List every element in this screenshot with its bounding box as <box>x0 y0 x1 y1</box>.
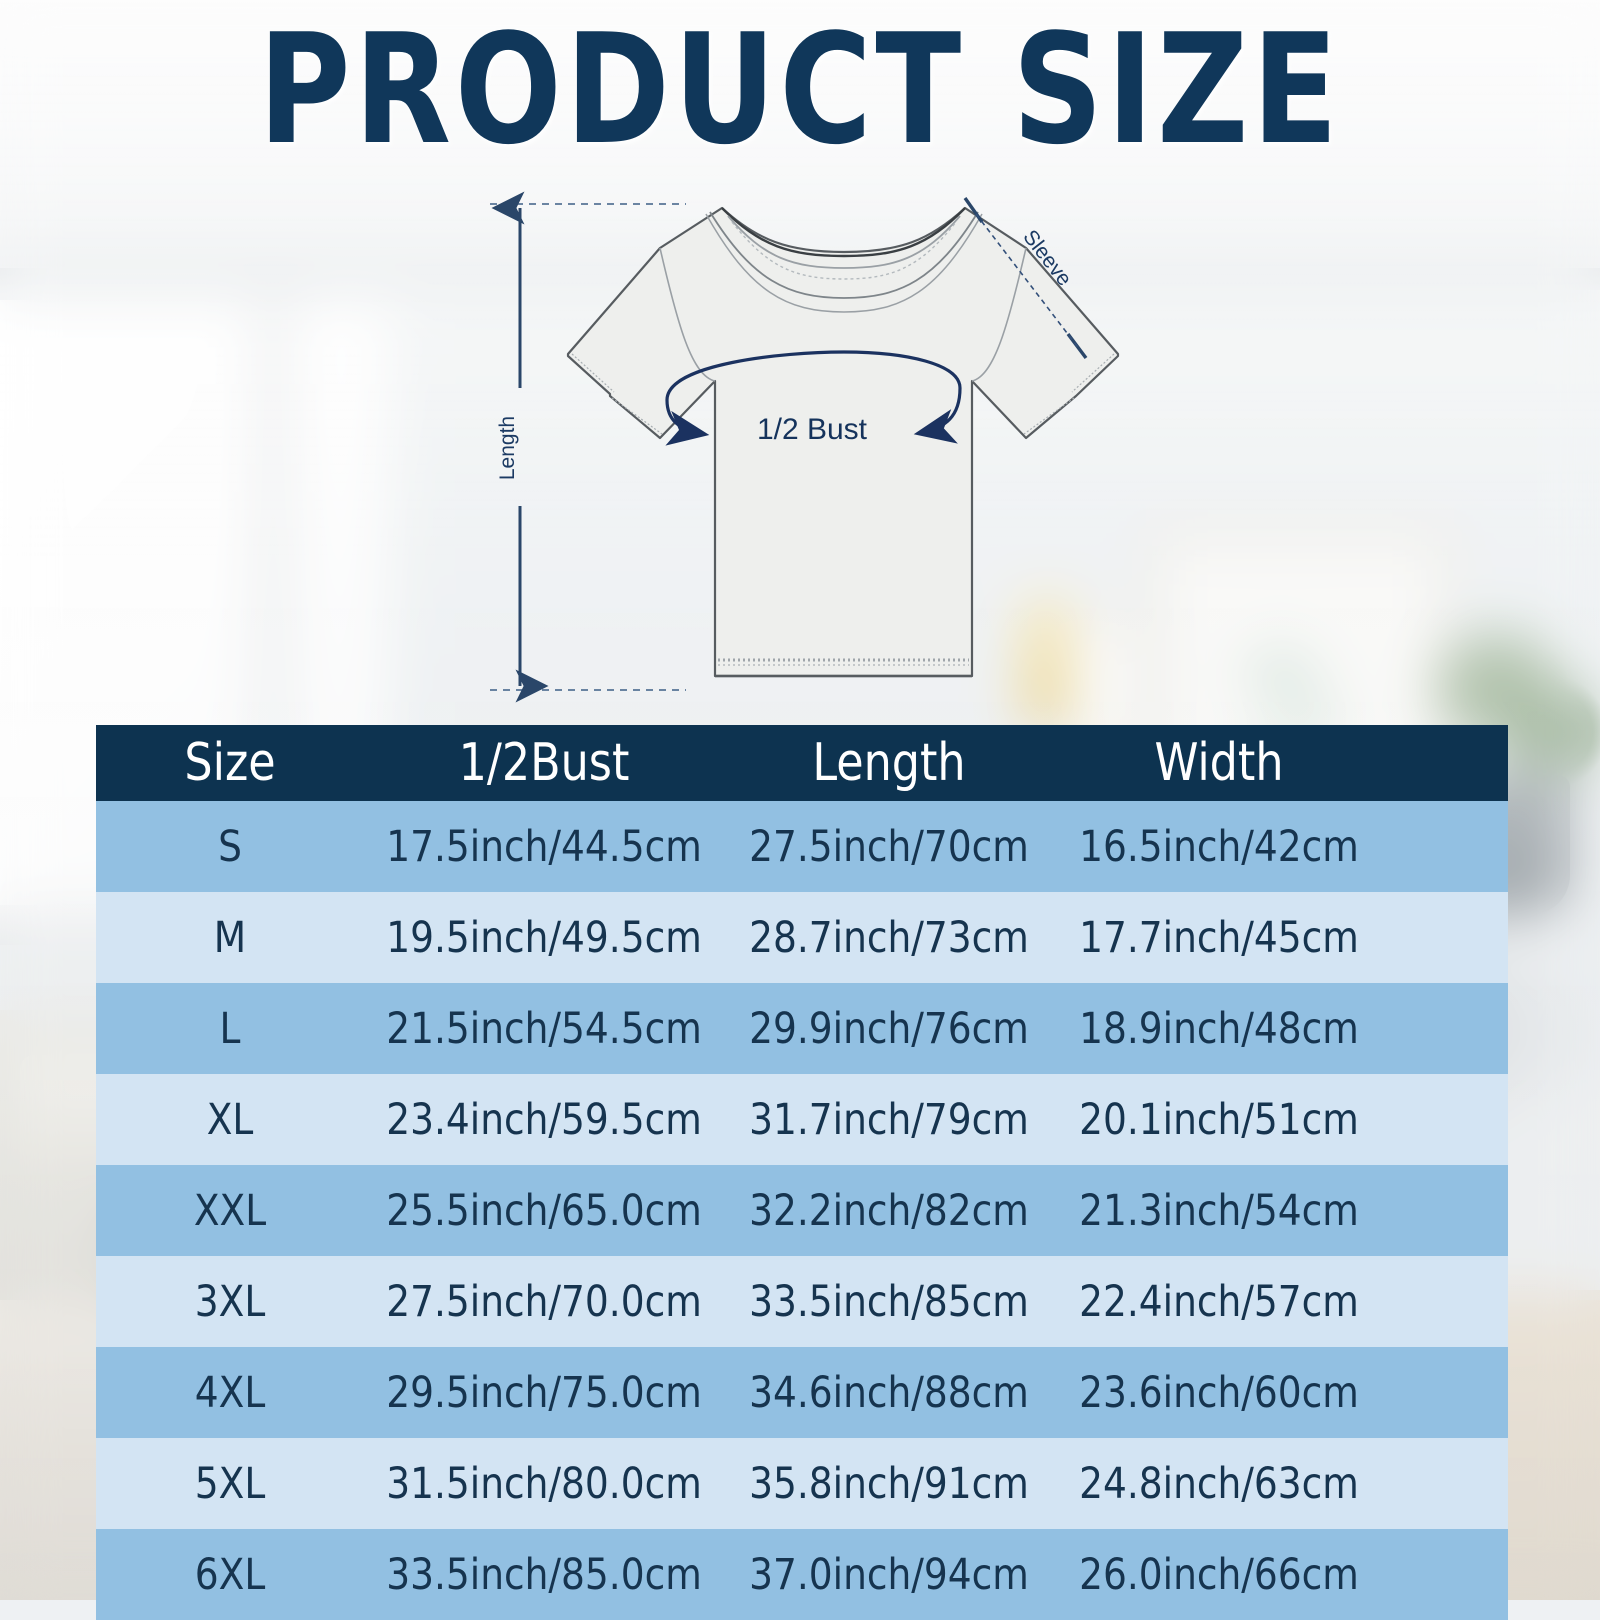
cell-length: 27.5inch/70cm <box>729 801 1049 892</box>
cell-bust: 33.5inch/85.0cm <box>369 1529 718 1620</box>
column-header-width: Width <box>1062 725 1376 801</box>
table-row: 5XL 31.5inch/80.0cm 35.8inch/91cm 24.8in… <box>96 1438 1508 1529</box>
cell-size: 6XL <box>100 1529 360 1620</box>
cell-size: S <box>100 801 360 892</box>
size-table: Size 1/2Bust Length Width S 17.5inch/44.… <box>96 725 1508 1620</box>
column-header-bust: 1/2Bust <box>373 725 715 801</box>
cell-bust: 25.5inch/65.0cm <box>369 1165 718 1256</box>
page-title: PRODUCT SIZE <box>64 14 1536 166</box>
cell-size: XL <box>100 1074 360 1165</box>
table-header-row: Size 1/2Bust Length Width <box>96 725 1508 801</box>
cell-length: 31.7inch/79cm <box>729 1074 1049 1165</box>
cell-width: 26.0inch/66cm <box>1059 1529 1379 1620</box>
column-header-size: Size <box>103 725 358 801</box>
cell-size: XXL <box>100 1165 360 1256</box>
table-row: 4XL 29.5inch/75.0cm 34.6inch/88cm 23.6in… <box>96 1347 1508 1438</box>
table-row: XL 23.4inch/59.5cm 31.7inch/79cm 20.1inc… <box>96 1074 1508 1165</box>
cell-size: 5XL <box>100 1438 360 1529</box>
tshirt-measurement-diagram: Length Sleeve 1/2 Bus <box>460 176 1120 716</box>
cell-bust: 31.5inch/80.0cm <box>369 1438 718 1529</box>
cell-width: 23.6inch/60cm <box>1059 1347 1379 1438</box>
half-bust-label: 1/2 Bust <box>757 413 868 446</box>
cell-bust: 23.4inch/59.5cm <box>369 1074 718 1165</box>
cell-length: 34.6inch/88cm <box>729 1347 1049 1438</box>
cell-size: M <box>100 892 360 983</box>
cell-length: 35.8inch/91cm <box>729 1438 1049 1529</box>
cell-size: 4XL <box>100 1347 360 1438</box>
table-row: XXL 25.5inch/65.0cm 32.2inch/82cm 21.3in… <box>96 1165 1508 1256</box>
cell-width: 16.5inch/42cm <box>1059 801 1379 892</box>
cell-width: 21.3inch/54cm <box>1059 1165 1379 1256</box>
table-row: M 19.5inch/49.5cm 28.7inch/73cm 17.7inch… <box>96 892 1508 983</box>
cell-bust: 29.5inch/75.0cm <box>369 1347 718 1438</box>
table-row: 6XL 33.5inch/85.0cm 37.0inch/94cm 26.0in… <box>96 1529 1508 1620</box>
length-label: Length <box>496 416 519 480</box>
cell-length: 28.7inch/73cm <box>729 892 1049 983</box>
cell-width: 20.1inch/51cm <box>1059 1074 1379 1165</box>
cell-size: 3XL <box>100 1256 360 1347</box>
table-row: L 21.5inch/54.5cm 29.9inch/76cm 18.9inch… <box>96 983 1508 1074</box>
table-row: 3XL 27.5inch/70.0cm 33.5inch/85cm 22.4in… <box>96 1256 1508 1347</box>
cell-width: 24.8inch/63cm <box>1059 1438 1379 1529</box>
cell-size: L <box>100 983 360 1074</box>
cell-length: 37.0inch/94cm <box>729 1529 1049 1620</box>
cell-bust: 27.5inch/70.0cm <box>369 1256 718 1347</box>
cell-length: 29.9inch/76cm <box>729 983 1049 1074</box>
column-header-length: Length <box>732 725 1046 801</box>
cell-bust: 21.5inch/54.5cm <box>369 983 718 1074</box>
cell-width: 17.7inch/45cm <box>1059 892 1379 983</box>
cell-width: 18.9inch/48cm <box>1059 983 1379 1074</box>
cell-length: 33.5inch/85cm <box>729 1256 1049 1347</box>
cell-length: 32.2inch/82cm <box>729 1165 1049 1256</box>
cell-width: 22.4inch/57cm <box>1059 1256 1379 1347</box>
table-row: S 17.5inch/44.5cm 27.5inch/70cm 16.5inch… <box>96 801 1508 892</box>
cell-bust: 19.5inch/49.5cm <box>369 892 718 983</box>
cell-bust: 17.5inch/44.5cm <box>369 801 718 892</box>
